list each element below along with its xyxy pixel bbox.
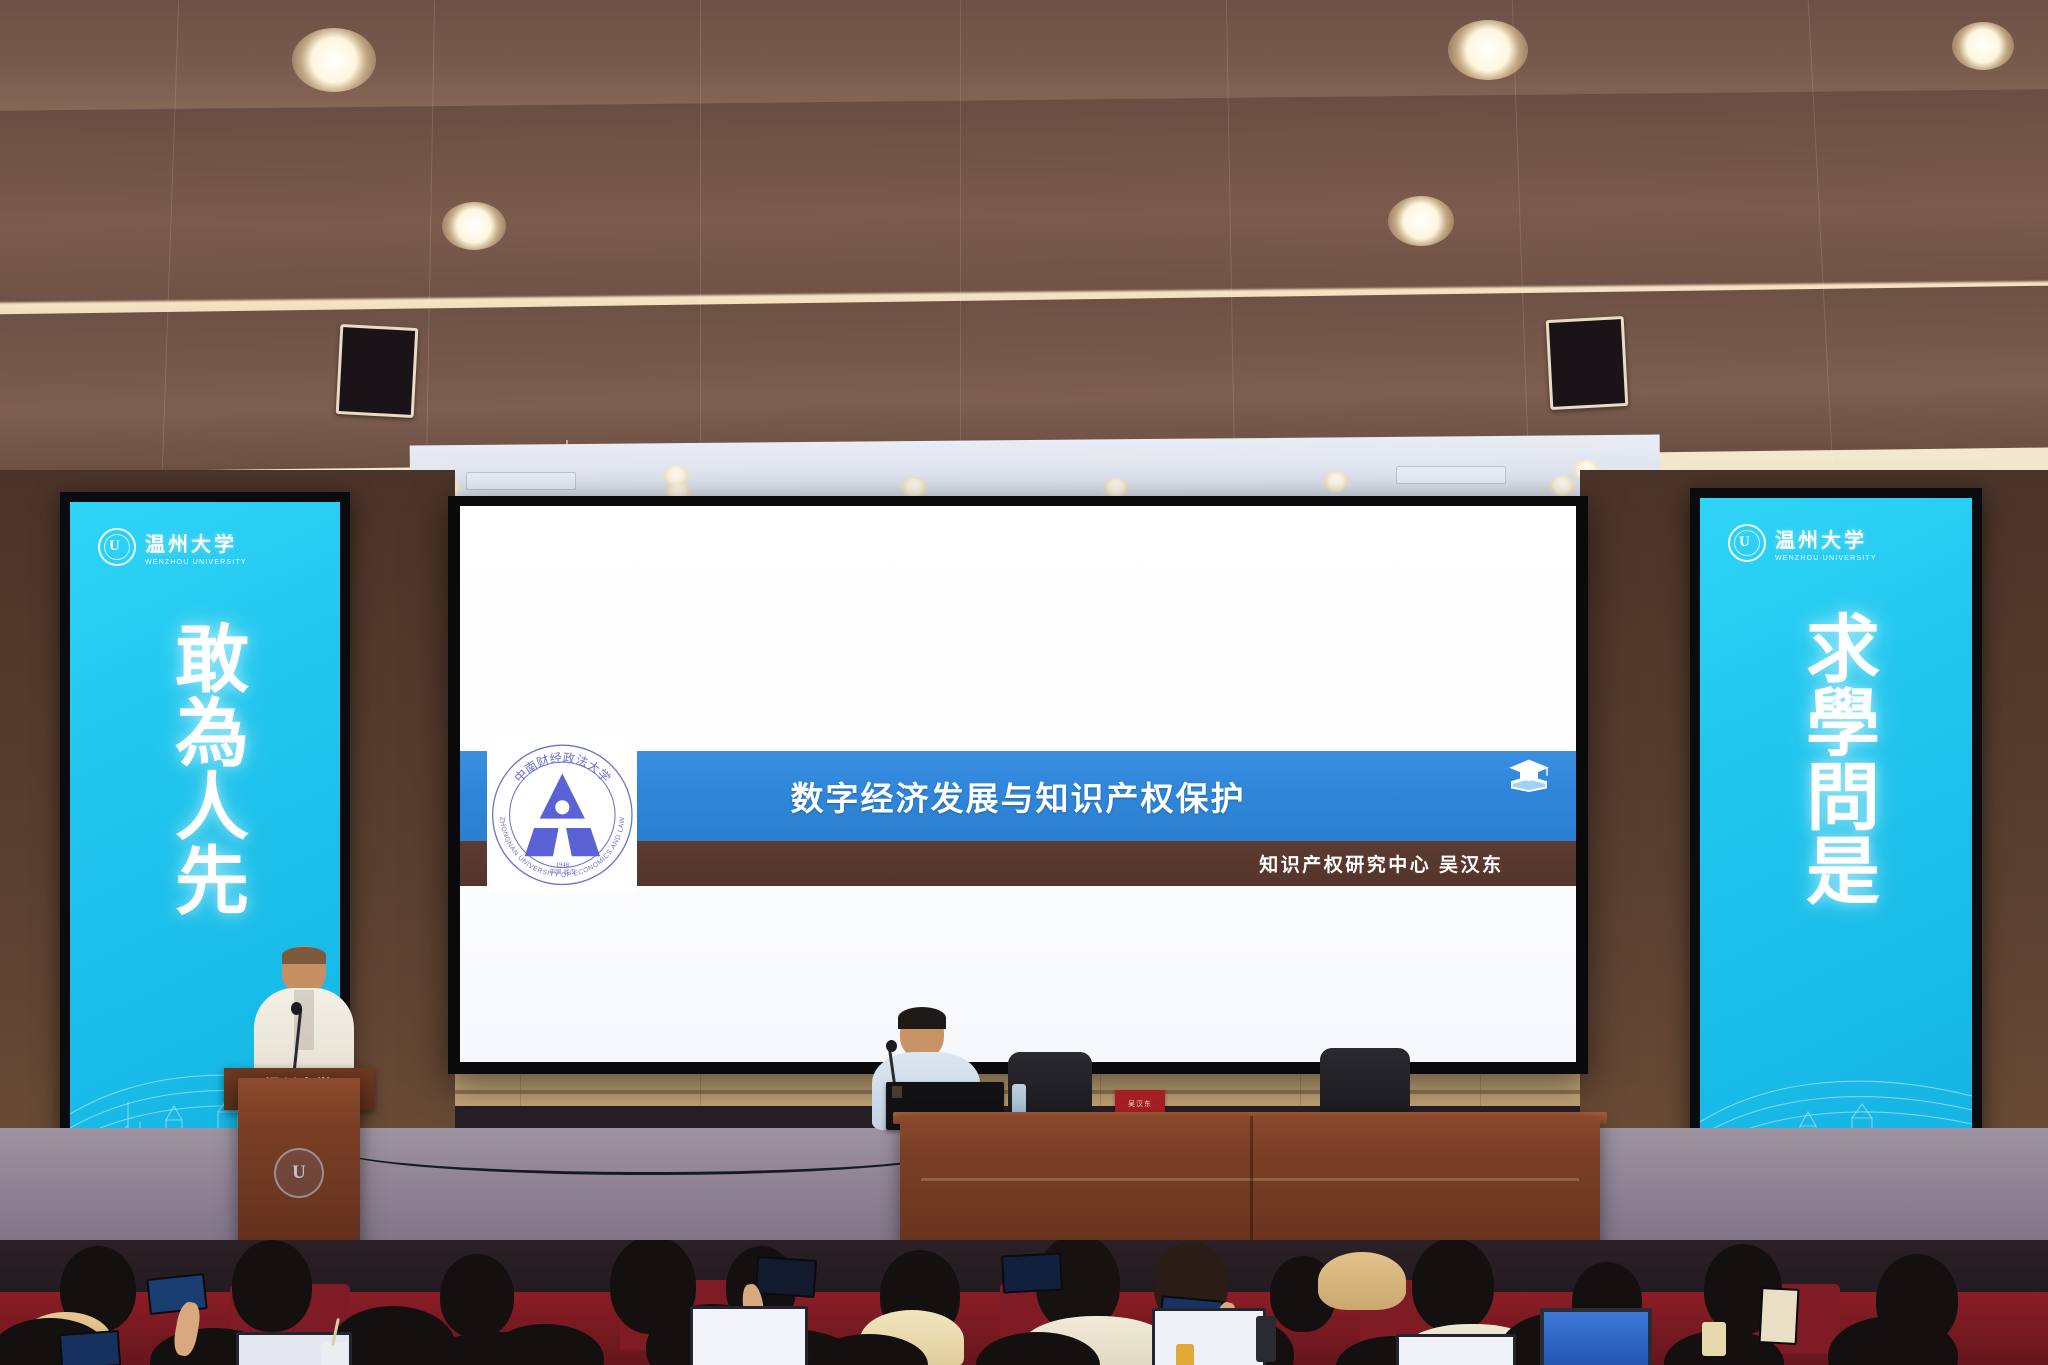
ceiling-downlight bbox=[1388, 196, 1454, 246]
ceiling-speaker-icon bbox=[1546, 316, 1629, 410]
wenzhou-university-logo-icon: U bbox=[1728, 524, 1766, 562]
auditorium-photo: U 温州大学 WENZHOU UNIVERSITY 敢為人先 bbox=[0, 0, 2048, 1365]
soffit-downlight bbox=[1102, 478, 1130, 498]
audience-hat bbox=[1318, 1252, 1406, 1310]
thermos bbox=[1256, 1316, 1276, 1362]
phone[interactable] bbox=[1001, 1252, 1063, 1293]
wenzhou-university-logo-icon: U bbox=[98, 528, 136, 566]
drink-cup bbox=[322, 1342, 348, 1365]
soffit-downlight bbox=[1322, 472, 1350, 492]
soffit-downlight bbox=[1548, 476, 1576, 496]
podium-microphone-head bbox=[291, 1002, 302, 1015]
right-banner-motto: 求學問是 bbox=[1795, 610, 1878, 906]
right-banner-frame: U 温州大学 WENZHOU UNIVERSITY 求學問是 bbox=[1690, 488, 1982, 1198]
ceiling-seam bbox=[960, 0, 961, 470]
ceiling-downlight bbox=[1448, 20, 1528, 80]
left-banner-logo-cn: 温州大学 bbox=[145, 528, 247, 557]
standing-speaker bbox=[248, 946, 358, 1086]
ceiling-speaker-icon bbox=[336, 324, 419, 418]
air-vent bbox=[466, 472, 576, 490]
projection-screen[interactable]: 1948 中国 武汉 中南财经政法大学 ZHONGNAN UNIVERSITY … bbox=[460, 506, 1576, 1062]
left-banner-motto: 敢為人先 bbox=[164, 620, 247, 916]
laptop-screen[interactable] bbox=[1396, 1334, 1516, 1365]
audience-area bbox=[0, 1240, 2048, 1365]
slide-subtitle: 知识产权研究中心 吴汉东 bbox=[460, 841, 1576, 887]
wenzhou-university-seal-icon: U bbox=[274, 1148, 324, 1198]
ceiling-downlight bbox=[1952, 22, 2014, 70]
phone[interactable] bbox=[1759, 1287, 1800, 1345]
air-vent bbox=[1396, 466, 1506, 484]
graduation-cap-on-book-icon bbox=[1507, 756, 1551, 792]
drink-cup bbox=[1702, 1322, 1726, 1356]
slide-title: 数字经济发展与知识产权保护 bbox=[460, 751, 1576, 841]
laptop-screen[interactable] bbox=[690, 1306, 808, 1365]
drink-bottle bbox=[1176, 1344, 1194, 1365]
laptop-screen[interactable] bbox=[1152, 1308, 1266, 1365]
ceiling-seam bbox=[700, 0, 701, 470]
phone[interactable] bbox=[59, 1330, 121, 1365]
ceiling-downlight bbox=[442, 202, 506, 250]
right-banner-logo-cn: 温州大学 bbox=[1775, 524, 1877, 553]
table-microphone-head bbox=[886, 1040, 897, 1052]
soffit-downlight bbox=[900, 478, 928, 498]
audience-head bbox=[232, 1240, 312, 1332]
floor-cable bbox=[330, 1120, 970, 1175]
tablet-screen[interactable] bbox=[1540, 1308, 1652, 1365]
chair bbox=[1320, 1048, 1410, 1120]
phone[interactable] bbox=[755, 1256, 818, 1298]
right-banner-logo-en: WENZHOU UNIVERSITY bbox=[1775, 555, 1877, 562]
audience-head bbox=[440, 1254, 514, 1338]
left-banner-logo-en: WENZHOU UNIVERSITY bbox=[145, 559, 247, 566]
audience-head bbox=[1412, 1240, 1494, 1332]
ceiling-downlight bbox=[292, 28, 376, 92]
